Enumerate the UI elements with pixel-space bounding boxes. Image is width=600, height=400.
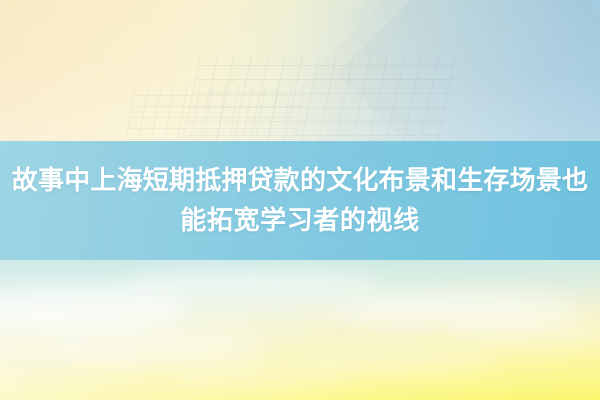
cloud-icon — [170, 364, 360, 390]
bottom-sky-area — [0, 260, 600, 400]
diagonal-shape-icon — [341, 0, 600, 141]
diagonal-shape-icon — [337, 0, 600, 141]
headline-band: 故事中上海短期抵押贷款的文化布景和生存场景也 能拓宽学习者的视线 — [0, 141, 600, 260]
cloud-icon — [40, 330, 270, 366]
top-decorative-area — [0, 0, 600, 141]
cloud-icon — [455, 318, 600, 348]
banner-graphic: 故事中上海短期抵押贷款的文化布景和生存场景也 能拓宽学习者的视线 — [0, 0, 600, 400]
headline-line-1: 故事中上海短期抵押贷款的文化布景和生存场景也 — [0, 161, 600, 201]
cloud-icon — [120, 268, 380, 302]
headline-line-2: 能拓宽学习者的视线 — [0, 201, 600, 241]
diagonal-shape-icon — [270, 30, 440, 141]
window-grid-texture-icon — [180, 55, 460, 141]
window-grid-texture-icon — [125, 85, 305, 140]
diagonal-shape-icon — [299, 0, 511, 141]
